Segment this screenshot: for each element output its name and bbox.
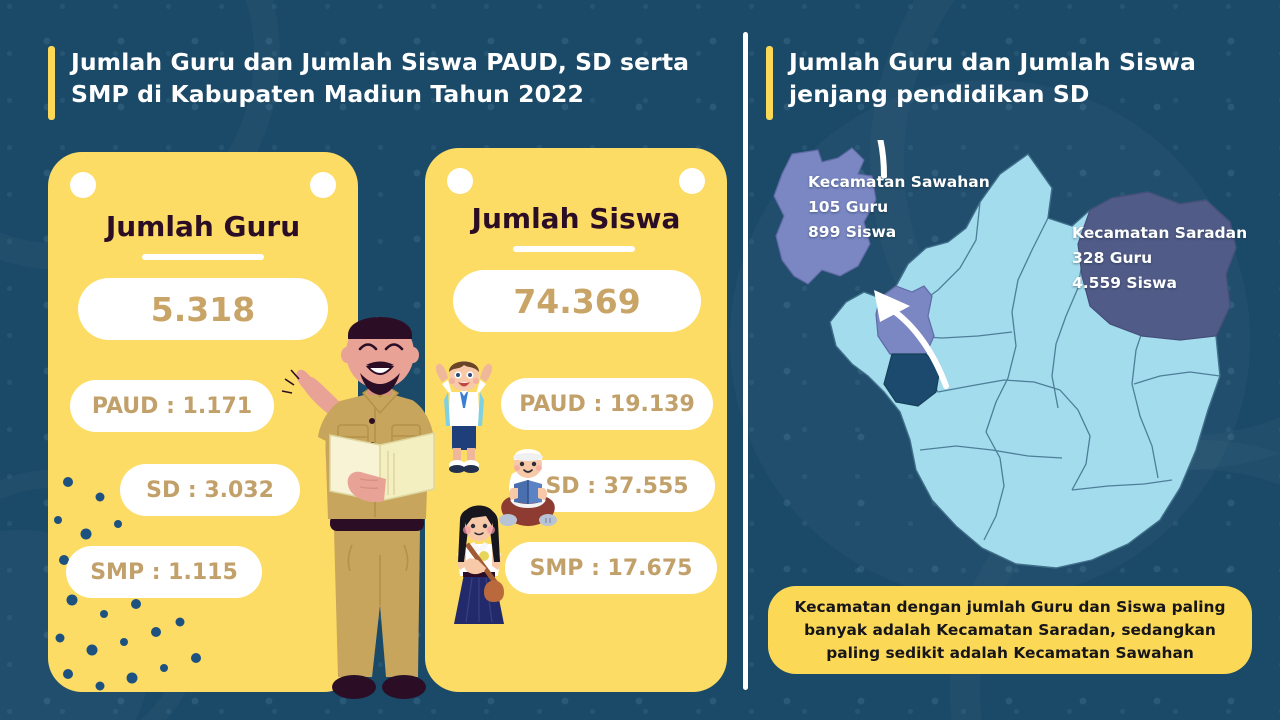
- card-title-underline: [513, 246, 635, 252]
- card-guru-title: Jumlah Guru: [48, 210, 358, 243]
- annotation-sawahan-name: Kecamatan Sawahan: [808, 170, 990, 195]
- guru-smp-value: SMP : 1.115: [66, 546, 262, 598]
- heading-accent-bar: [48, 46, 55, 120]
- siswa-smp-value: SMP : 17.675: [505, 542, 717, 594]
- right-heading-text: Jumlah Guru dan Jumlah Siswa jenjang pen…: [789, 46, 1236, 110]
- student-boy-illustration: [424, 352, 504, 476]
- card-siswa-title: Jumlah Siswa: [425, 202, 727, 235]
- right-panel-heading: Jumlah Guru dan Jumlah Siswa jenjang pen…: [766, 46, 1236, 120]
- left-heading-text: Jumlah Guru dan Jumlah Siswa PAUD, SD se…: [71, 46, 708, 110]
- card-punch-hole: [447, 168, 473, 194]
- siswa-paud-value: PAUD : 19.139: [501, 378, 713, 430]
- student-girl-illustration: [440, 500, 518, 630]
- annotation-sawahan-siswa: 899 Siswa: [808, 220, 990, 245]
- vertical-divider: [743, 32, 748, 690]
- annotation-sawahan: Kecamatan Sawahan 105 Guru 899 Siswa: [808, 170, 990, 245]
- annotation-saradan-siswa: 4.559 Siswa: [1072, 271, 1247, 296]
- guru-paud-value: PAUD : 1.171: [70, 380, 274, 432]
- annotation-saradan-guru: 328 Guru: [1072, 246, 1247, 271]
- left-panel-heading: Jumlah Guru dan Jumlah Siswa PAUD, SD se…: [48, 46, 708, 120]
- annotation-saradan-name: Kecamatan Saradan: [1072, 221, 1247, 246]
- card-punch-hole: [70, 172, 96, 198]
- annotation-sawahan-guru: 105 Guru: [808, 195, 990, 220]
- infographic-canvas: Jumlah Guru dan Jumlah Siswa PAUD, SD se…: [0, 0, 1280, 720]
- summary-callout-text: Kecamatan dengan jumlah Guru dan Siswa p…: [788, 596, 1232, 665]
- card-title-underline: [142, 254, 264, 260]
- siswa-total-value: 74.369: [453, 270, 701, 332]
- heading-accent-bar: [766, 46, 773, 120]
- summary-callout: Kecamatan dengan jumlah Guru dan Siswa p…: [768, 586, 1252, 674]
- card-punch-hole: [679, 168, 705, 194]
- card-punch-hole: [310, 172, 336, 198]
- annotation-saradan: Kecamatan Saradan 328 Guru 4.559 Siswa: [1072, 221, 1247, 296]
